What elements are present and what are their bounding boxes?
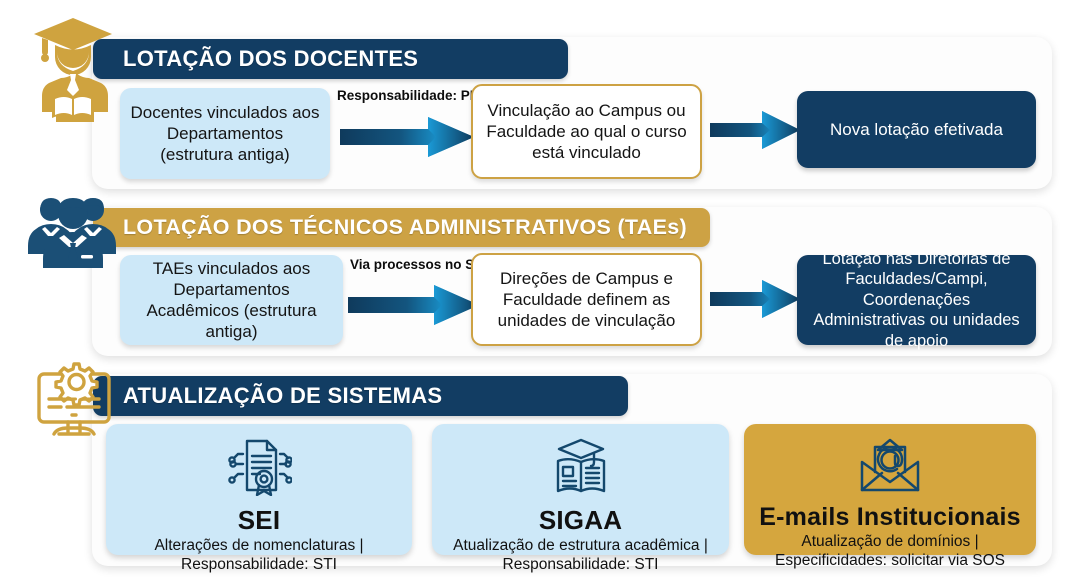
flow-box-text: Lotação nas Diretorias de Faculdades/Cam… [797, 249, 1036, 351]
flow-box-docentes-3: Nova lotação efetivada [797, 91, 1036, 168]
arrow-label-docentes-1: Responsabilidade: PROGEP [337, 88, 465, 103]
system-subtitle: Atualização de domínios | Especificidade… [744, 533, 1036, 571]
flow-box-text: Nova lotação efetivada [820, 119, 1013, 140]
section-header-atualizacao-sistemas: ATUALIZAÇÃO DE SISTEMAS [93, 376, 628, 416]
certificate-document-icon [226, 438, 292, 501]
graduation-book-icon [550, 438, 612, 501]
section-header-lotacao-docentes: LOTAÇÃO DOS DOCENTES [93, 39, 568, 79]
system-title: SIGAA [539, 505, 622, 536]
flow-box-docentes-1: Docentes vinculados aos Departamentos (e… [120, 88, 330, 179]
arrow-taes-2 [710, 277, 802, 321]
system-card-sigaa: SIGAA Atualização de estrutura acadêmica… [432, 424, 729, 555]
section-title: ATUALIZAÇÃO DE SISTEMAS [123, 383, 442, 409]
system-title: SEI [238, 505, 281, 536]
flow-box-text: Vinculação ao Campus ou Faculdade ao qua… [473, 100, 700, 163]
graduate-teacher-icon [30, 12, 116, 122]
email-envelope-icon [857, 438, 923, 499]
flow-box-taes-2: Direções de Campus e Faculdade definem a… [471, 253, 702, 346]
flow-box-taes-3: Lotação nas Diretorias de Faculdades/Cam… [797, 255, 1036, 345]
flow-box-text: TAEs vinculados aos Departamentos Acadêm… [120, 258, 343, 342]
flow-box-docentes-2: Vinculação ao Campus ou Faculdade ao qua… [471, 84, 702, 179]
infographic-page: LOTAÇÃO DOS DOCENTES Docentes vinculados… [0, 0, 1083, 582]
system-card-emails: E-mails Institucionais Atualização de do… [744, 424, 1036, 555]
flow-box-taes-1: TAEs vinculados aos Departamentos Acadêm… [120, 255, 343, 345]
flow-box-text: Docentes vinculados aos Departamentos (e… [120, 102, 330, 165]
arrow-docentes-1 [340, 115, 476, 159]
system-title: E-mails Institucionais [759, 503, 1020, 532]
section-header-lotacao-taes: LOTAÇÃO DOS TÉCNICOS ADMINISTRATIVOS (TA… [93, 208, 710, 247]
system-card-sei: SEI Alterações de nomenclaturas | Respon… [106, 424, 412, 555]
section-title: LOTAÇÃO DOS TÉCNICOS ADMINISTRATIVOS (TA… [123, 215, 687, 240]
flow-box-text: Direções de Campus e Faculdade definem a… [473, 268, 700, 331]
system-subtitle: Atualização de estrutura acadêmica | Res… [432, 537, 729, 575]
section-title: LOTAÇÃO DOS DOCENTES [123, 46, 418, 72]
arrow-label-taes-1: Via processos no SEI [350, 257, 460, 272]
arrow-docentes-2 [710, 108, 802, 152]
people-group-icon [18, 196, 126, 268]
arrow-taes-1 [348, 283, 481, 327]
monitor-gear-icon [28, 362, 120, 444]
system-subtitle: Alterações de nomenclaturas | Responsabi… [106, 537, 412, 575]
